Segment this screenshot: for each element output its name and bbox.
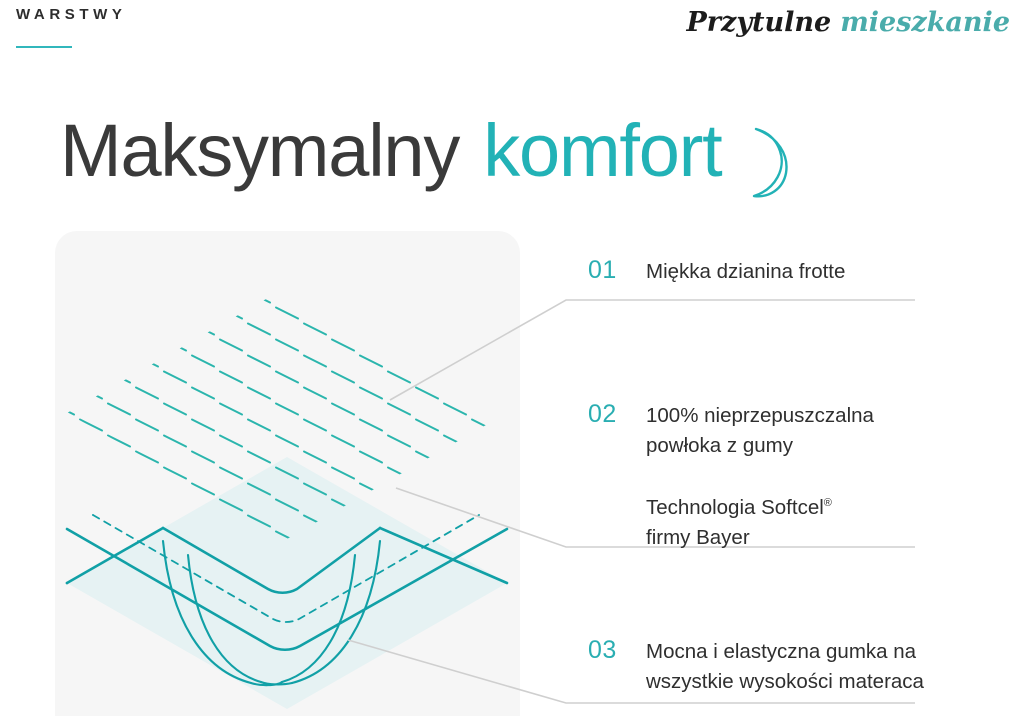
- tagline-word-przytulne: Przytulne: [686, 7, 831, 38]
- feature-index-02: 02: [588, 400, 646, 428]
- feature-item-03: 03 Mocna i elastyczna gumka na wszystkie…: [588, 636, 924, 697]
- feature-body-02: 100% nieprzepuszczalna powłoka z gumy Te…: [646, 400, 874, 553]
- feature-item-02: 02 100% nieprzepuszczalna powłoka z gumy…: [588, 400, 874, 553]
- brand-underline-divider: [16, 46, 72, 48]
- feature-subtext-02: Technologia Softcel® firmy Bayer: [646, 488, 874, 553]
- feature-text-03: Mocna i elastyczna gumka na wszystkie wy…: [646, 637, 924, 697]
- feature-index-01: 01: [588, 256, 646, 284]
- brand-wordmark: WARSTWY: [16, 6, 127, 23]
- feature-subtext-02-prefix: Technologia Softcel: [646, 496, 824, 519]
- feature-text-01: Miękka dzianina frotte: [646, 257, 845, 287]
- tagline-word-mieszkanie: mieszkanie: [840, 7, 1010, 38]
- registered-trademark-icon: ®: [824, 497, 832, 509]
- feature-index-03: 03: [588, 636, 646, 664]
- feature-body-01: Miękka dzianina frotte: [646, 256, 845, 287]
- tagline: Przytulne mieszkanie: [686, 0, 1010, 44]
- header-bar: WARSTWY Przytulne mieszkanie: [0, 0, 1020, 60]
- crescent-moon-icon: [736, 123, 810, 201]
- mattress-protector-layers-diagram: [55, 231, 520, 716]
- feature-subtext-02-suffix: firmy Bayer: [646, 526, 750, 549]
- title-word-maksymalny: Maksymalny: [60, 114, 459, 188]
- title-word-komfort: komfort: [483, 114, 721, 188]
- layers-illustration-panel: [55, 231, 520, 716]
- feature-text-02: 100% nieprzepuszczalna powłoka z gumy: [646, 401, 874, 461]
- page-title: Maksymalny komfort: [60, 96, 810, 206]
- feature-body-03: Mocna i elastyczna gumka na wszystkie wy…: [646, 636, 924, 697]
- feature-item-01: 01 Miękka dzianina frotte: [588, 256, 845, 287]
- waterproof-membrane-layer: [67, 457, 507, 709]
